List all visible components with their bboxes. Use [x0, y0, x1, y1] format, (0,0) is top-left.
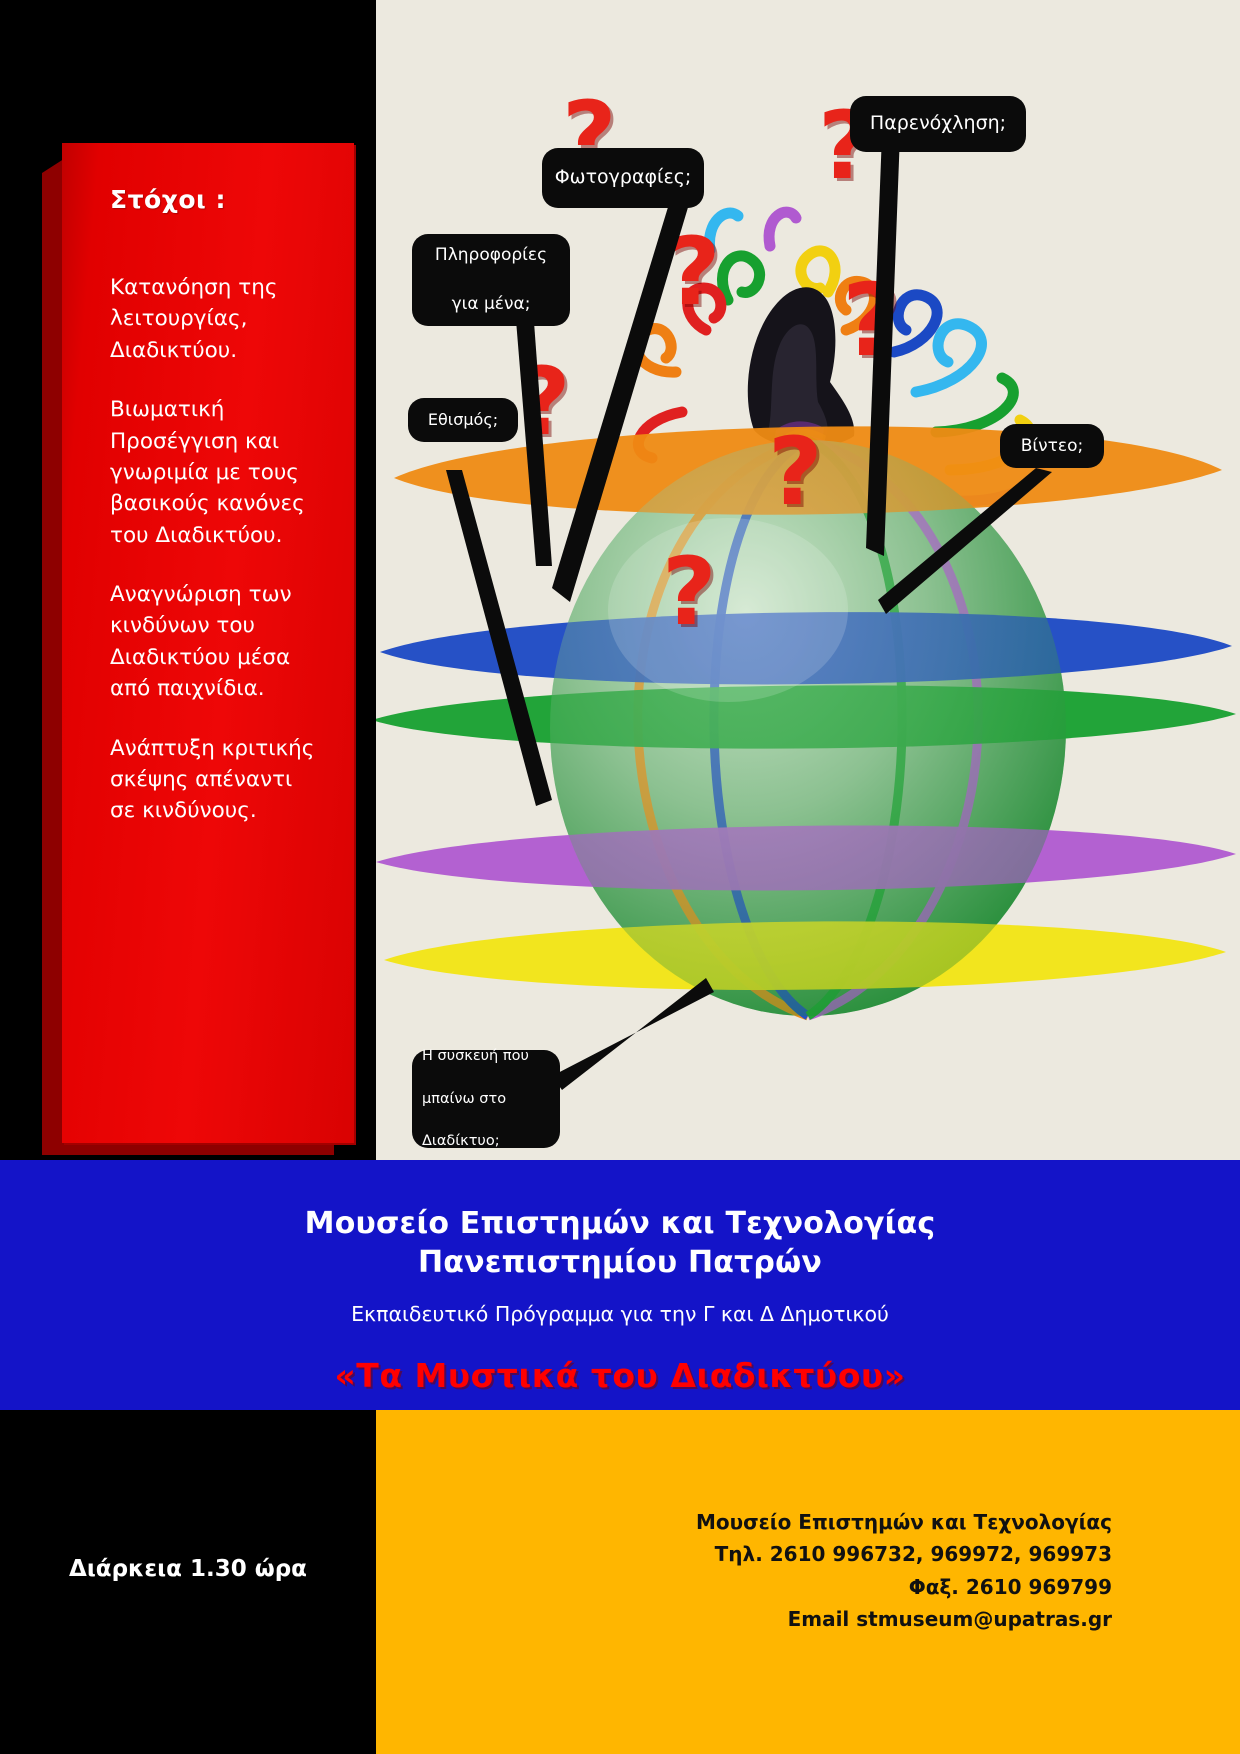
title-banner: Μουσείο Επιστημών και Τεχνολογίας Πανεπι…: [0, 1160, 1240, 1410]
bottom-black-panel: [0, 1410, 376, 1754]
bubble-ethismos-label: Εθισμός;: [428, 408, 498, 431]
bubble-parenochlisi-label: Παρενόχληση;: [870, 110, 1006, 138]
contact-line-2: Τηλ. 2610 996732, 969972, 969973: [376, 1538, 1240, 1570]
objective-item-1: Κατανόηση της λειτουργίας, Διαδικτύου.: [110, 272, 320, 366]
bubble-syskevi-line2: μπαίνω στο: [422, 1089, 529, 1110]
bubble-vinteo-label: Βίντεο;: [1021, 434, 1083, 459]
bubble-plirofories-line1: Πληροφορίες: [435, 243, 547, 268]
tail-fotografies: [552, 194, 692, 602]
program-subtitle: Εκπαιδευτικό Πρόγραμμα για την Γ και Δ Δ…: [0, 1280, 1240, 1326]
tail-plirofories: [516, 320, 552, 566]
contact-email: Email stmuseum@upatras.gr: [376, 1603, 1240, 1635]
tail-syskevi: [552, 978, 714, 1090]
illustration-stage: ? ? ? ? ? ? ? Πληροφορίες για μένα; Εθισ…: [376, 0, 1240, 1160]
bubble-syskevi[interactable]: Η συσκευή που μπαίνω στο Διαδίκτυο;: [412, 1050, 560, 1148]
bubble-tails: [376, 0, 1240, 1160]
contact-line-3: Φαξ. 2610 969799: [376, 1571, 1240, 1603]
museum-name-line1: Μουσείο Επιστημών και Τεχνολογίας: [0, 1160, 1240, 1241]
bubble-vinteo[interactable]: Βίντεο;: [1000, 424, 1104, 468]
contact-footer: Μουσείο Επιστημών και Τεχνολογίας Τηλ. 2…: [376, 1410, 1240, 1754]
duration-label: Διάρκεια 1.30 ώρα: [0, 1556, 376, 1582]
bubble-fotografies-label: Φωτογραφίες;: [555, 164, 692, 192]
bubble-syskevi-line1: Η συσκευή που: [422, 1046, 529, 1067]
tail-parenochlisi: [866, 134, 900, 556]
contact-line-1: Μουσείο Επιστημών και Τεχνολογίας: [376, 1410, 1240, 1538]
program-title: «Τα Μυστικά του Διαδικτύου»: [0, 1326, 1240, 1395]
objective-item-3: Αναγνώριση των κινδύνων του Διαδικτύου μ…: [110, 579, 320, 705]
bubble-fotografies[interactable]: Φωτογραφίες;: [542, 148, 704, 208]
poster-root: ? ? ? ? ? ? ? Πληροφορίες για μένα; Εθισ…: [0, 0, 1240, 1754]
bubble-parenochlisi[interactable]: Παρενόχληση;: [850, 96, 1026, 152]
objective-item-2: Βιωματική Προσέγγιση και γνωριμία με του…: [110, 394, 320, 551]
tail-vinteo: [878, 468, 1052, 614]
bubble-plirofories[interactable]: Πληροφορίες για μένα;: [412, 234, 570, 326]
objective-item-4: Ανάπτυξη κριτικής σκέψης απέναντι σε κιν…: [110, 733, 320, 827]
bubble-syskevi-line3: Διαδίκτυο;: [422, 1131, 529, 1152]
objectives-content: Στόχοι : Κατανόηση της λειτουργίας, Διαδ…: [110, 185, 320, 855]
museum-name-line2: Πανεπιστημίου Πατρών: [0, 1241, 1240, 1280]
objectives-title: Στόχοι :: [110, 185, 320, 214]
bubble-plirofories-line2: για μένα;: [435, 292, 547, 317]
bubble-ethismos[interactable]: Εθισμός;: [408, 398, 518, 442]
